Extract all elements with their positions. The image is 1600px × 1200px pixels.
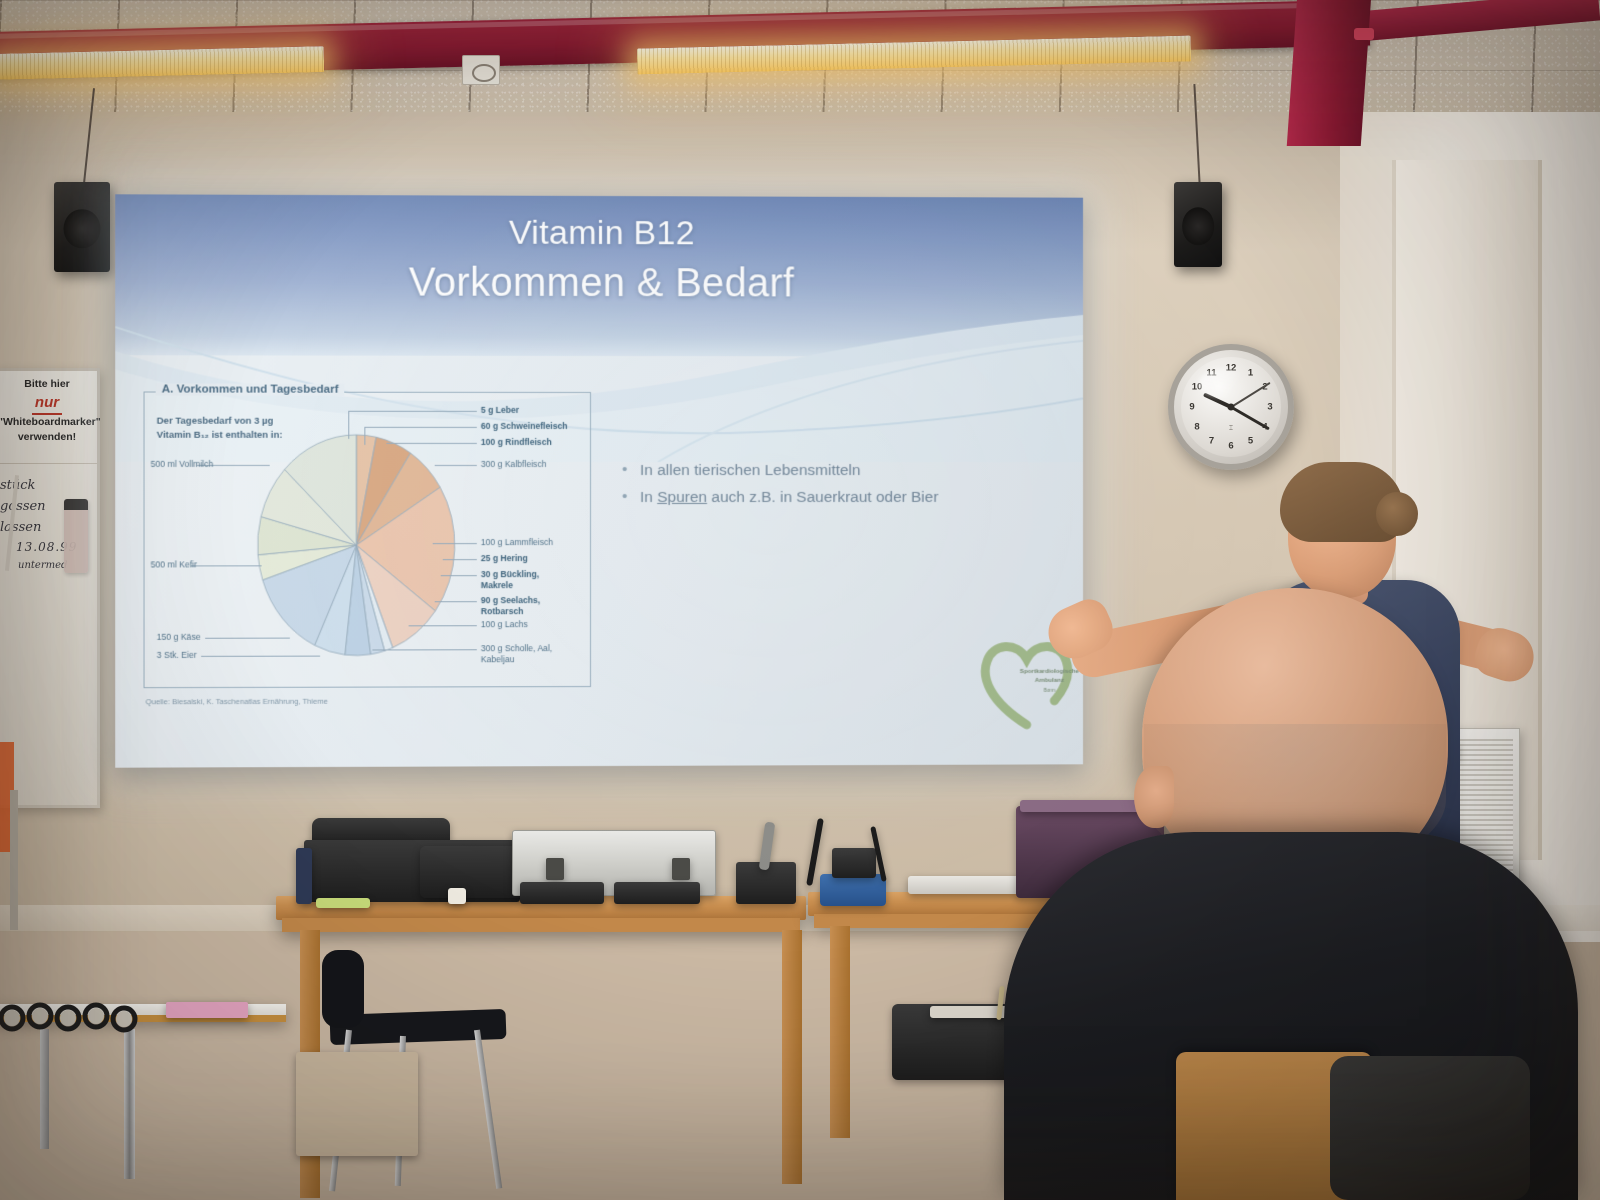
bullet-underline-spuren: Spuren <box>657 489 707 506</box>
whiteboard-divider <box>0 463 97 464</box>
sign-line-3: verwenden! <box>0 430 96 445</box>
pie-label-bueckling: 30 g Bückling, Makrele <box>481 569 559 591</box>
leader-kefir <box>191 565 262 566</box>
pie-label-vollmilch: 500 ml Vollmilch <box>151 459 214 470</box>
clock-num-8: 8 <box>1194 422 1199 433</box>
clock-num-6: 6 <box>1228 441 1233 452</box>
chart-panel: Der Tagesbedarf von 3 µg Vitamin B₁₂ ist… <box>144 391 591 688</box>
pie-label-kalb: 300 g Kalbfleisch <box>481 459 547 470</box>
slide-title-line2: Vorkommen & Bedarf <box>115 260 1083 307</box>
leader-hering <box>443 559 477 560</box>
sign-emphasis-nur: nur <box>32 392 62 415</box>
board-stand <box>10 790 18 930</box>
clock-num-7: 7 <box>1209 436 1214 447</box>
equipment-blue-device <box>820 874 886 906</box>
leader-seelachs <box>435 601 477 602</box>
clock-minute-hand <box>1230 406 1270 431</box>
equipment-dark-box-2 <box>614 882 700 904</box>
case-latch-right <box>672 858 690 880</box>
white-table-leg-2 <box>40 1029 49 1149</box>
pie-label-leber: 5 g Leber <box>481 405 519 416</box>
clock-num-3: 3 <box>1267 402 1272 413</box>
ceiling-vent <box>462 55 500 85</box>
cardboard-box <box>296 1052 418 1156</box>
projected-slide: Vitamin B12 Vorkommen & Bedarf Der Tages… <box>115 194 1083 767</box>
clock-face: 12 1 2 3 4 5 6 7 8 9 10 11 ⌶ <box>1181 357 1281 457</box>
leader-leber <box>348 411 477 412</box>
pie-label-seelachs: 90 g Seelachs, Rotbarsch <box>481 595 559 617</box>
ceiling-light-rail-corner <box>1287 0 1371 146</box>
clock-glass-glare <box>1199 369 1251 399</box>
desk-left-leg-2 <box>782 930 802 1184</box>
leader-lamm <box>433 543 477 544</box>
pie-label-lachs: 100 g Lachs <box>481 619 528 630</box>
leader-rind <box>386 443 476 444</box>
desk-right-leg-1 <box>830 926 850 1138</box>
leader-scholle <box>372 649 476 650</box>
whiteboard-marker[interactable] <box>64 499 88 573</box>
rail-knob <box>1354 28 1374 40</box>
pie-label-kefir: 500 ml Kefir <box>151 559 197 570</box>
chart-panel-legend: A. Vorkommen und Tagesbedarf <box>156 383 345 395</box>
pie-label-lamm: 100 g Lammfleisch <box>481 537 553 548</box>
sign-line-2: "Whiteboardmarker" <box>0 415 96 430</box>
equipment-black-handheld <box>832 848 876 878</box>
white-table-leg-1 <box>124 1029 135 1179</box>
whiteboard[interactable]: Bitte hier nur "Whiteboardmarker" verwen… <box>0 368 100 808</box>
bullet-item-1: In allen tierischen Lebensmitteln <box>618 458 1036 485</box>
lecture-room-scene: Bitte hier nur "Whiteboardmarker" verwen… <box>0 0 1600 1200</box>
chair-backrest[interactable] <box>322 950 364 1028</box>
foreground-bag <box>1330 1056 1530 1200</box>
clock-num-9: 9 <box>1189 402 1194 413</box>
leader-leber-v <box>348 411 349 439</box>
pie-label-hering: 25 g Hering <box>481 553 528 564</box>
leader-bueckling <box>441 575 477 576</box>
pink-papers <box>166 1002 248 1018</box>
wall-clock: 12 1 2 3 4 5 6 7 8 9 10 11 ⌶ <box>1168 344 1294 470</box>
chair-leg-2 <box>474 1030 502 1189</box>
stethoscope-bundle <box>0 1002 164 1036</box>
chart-source: Quelle: Biesalski, K. Taschenatlas Ernäh… <box>146 697 328 707</box>
equipment-white-tray <box>908 876 1020 894</box>
sticky-note-green <box>316 898 370 908</box>
pie-label-kaese: 150 g Käse <box>157 632 201 643</box>
sign-line-1: Bitte hier <box>0 377 96 392</box>
bullet-item-2: In Spuren auch z.B. in Sauerkraut oder B… <box>618 485 1036 512</box>
slide-title: Vitamin B12 Vorkommen & Bedarf <box>115 212 1083 307</box>
clock-center-pin <box>1228 404 1235 411</box>
clock-brand-mark: ⌶ <box>1229 425 1233 433</box>
equipment-small-white-item <box>448 888 466 904</box>
equipment-blue-folder <box>296 848 312 904</box>
pie-label-scholle: 300 g Scholle, Aal, Kabeljau <box>481 643 565 666</box>
leader-schwein-v <box>364 427 365 445</box>
leader-lachs <box>409 625 477 626</box>
pie-label-eier: 3 Stk. Eier <box>157 650 197 661</box>
wall-speaker-right <box>1174 182 1222 267</box>
leader-schwein <box>364 427 476 428</box>
pie-label-rind: 100 g Rindfleisch <box>481 437 552 448</box>
equipment-dark-box-1 <box>520 882 604 904</box>
desk-left-apron <box>282 918 800 932</box>
audience-ear <box>1134 766 1174 828</box>
presenter-hair-bun <box>1376 492 1418 536</box>
whiteboard-sign: Bitte hier nur "Whiteboardmarker" verwen… <box>0 377 96 445</box>
slide-bullet-list: In allen tierischen Lebensmitteln In Spu… <box>618 458 1036 511</box>
leader-kaese <box>205 638 290 639</box>
slide-title-line1: Vitamin B12 <box>509 214 695 253</box>
clock-num-5: 5 <box>1248 436 1253 447</box>
case-latch-left <box>546 858 564 880</box>
pie-label-schwein: 60 g Schweinefleisch <box>481 421 568 432</box>
chart-subtitle-line1: Der Tagesbedarf von 3 µg <box>157 415 283 429</box>
leader-kalb <box>435 465 477 466</box>
